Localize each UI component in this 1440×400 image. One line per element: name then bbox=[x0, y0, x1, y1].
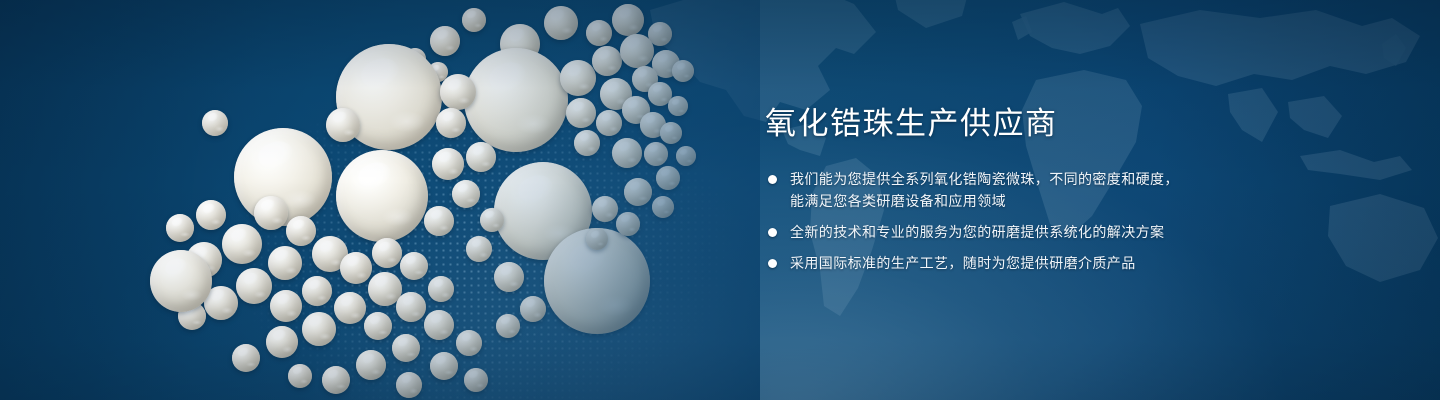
feature-bullet-line-1: 全新的技术和专业的服务为您的研磨提供系统化的解决方案 bbox=[790, 224, 1164, 240]
banner-headline: 氧化锆珠生产供应商 bbox=[765, 104, 1235, 144]
feature-bullet-item: 全新的技术和专业的服务为您的研磨提供系统化的解决方案 bbox=[765, 221, 1235, 243]
hero-banner: 氧化锆珠生产供应商 我们能为您提供全系列氧化锆陶瓷微珠，不同的密度和硬度， 能满… bbox=[0, 0, 1440, 400]
feature-bullet-list: 我们能为您提供全系列氧化锆陶瓷微珠，不同的密度和硬度， 能满足您各类研磨设备和应… bbox=[765, 168, 1235, 274]
bullet-dot-icon bbox=[768, 175, 777, 184]
feature-bullet-line-2: 能满足您各类研磨设备和应用领域 bbox=[790, 190, 1235, 212]
bullet-dot-icon bbox=[768, 259, 777, 268]
feature-bullet-item: 采用国际标准的生产工艺，随时为您提供研磨介质产品 bbox=[765, 252, 1235, 274]
feature-bullet-line-1: 采用国际标准的生产工艺，随时为您提供研磨介质产品 bbox=[790, 255, 1136, 271]
banner-copy-block: 氧化锆珠生产供应商 我们能为您提供全系列氧化锆陶瓷微珠，不同的密度和硬度， 能满… bbox=[765, 104, 1235, 274]
bullet-dot-icon bbox=[768, 228, 777, 237]
feature-bullet-item: 我们能为您提供全系列氧化锆陶瓷微珠，不同的密度和硬度， 能满足您各类研磨设备和应… bbox=[765, 168, 1235, 212]
feature-bullet-line-1: 我们能为您提供全系列氧化锆陶瓷微珠，不同的密度和硬度， bbox=[790, 171, 1179, 187]
